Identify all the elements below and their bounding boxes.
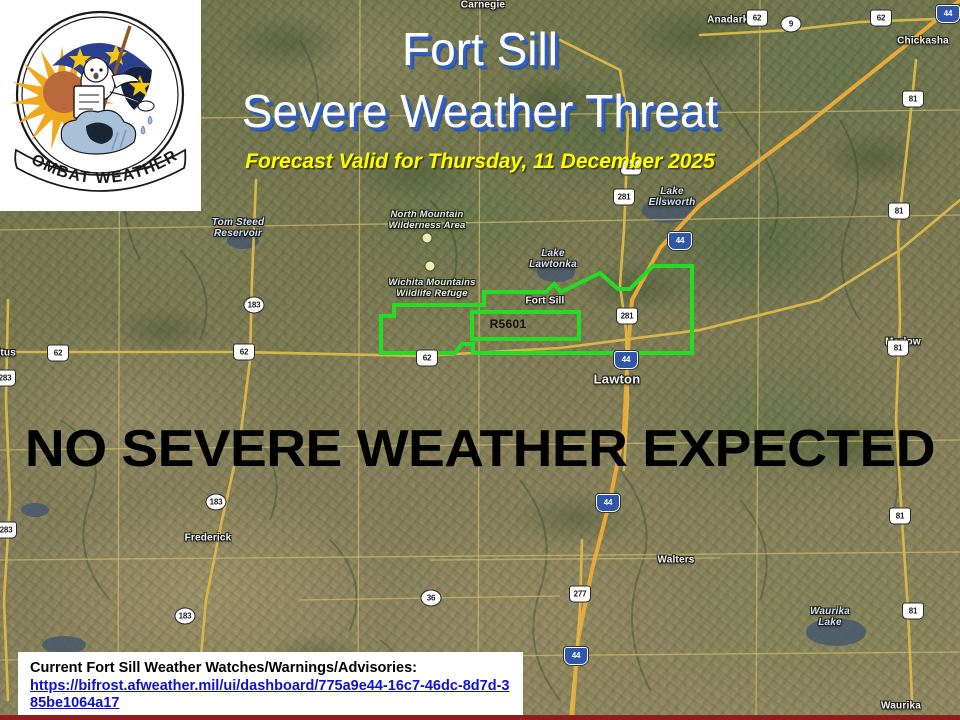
highway-shield-us-62-icon: 62 <box>47 345 69 362</box>
highway-shield-us-81-icon: 81 <box>887 340 909 357</box>
park-label-wichita-mountains: Wichita Mountains Wildlife Refuge <box>380 277 485 299</box>
highway-shield-us-81-icon: 81 <box>902 603 924 620</box>
watches-warnings-heading: Current Fort Sill Weather Watches/Warnin… <box>30 660 513 677</box>
water-label-waurika-lake: Waurika Lake <box>800 606 860 628</box>
city-label-altus: Altus <box>0 348 16 359</box>
highway-shield-i-44-icon: 44 <box>596 494 620 512</box>
highway-shield-sr-36-icon: 36 <box>421 590 442 607</box>
city-label-walters: Walters <box>657 555 694 566</box>
place-label-fort-sill: Fort Sill <box>525 296 564 307</box>
water-label-lake-ellsworth: Lake Ellsworth <box>637 186 707 208</box>
highway-shield-us-81-icon: 81 <box>888 203 910 220</box>
highway-shield-i-44-icon: 44 <box>614 351 638 369</box>
highway-shield-sr-183-icon: 183 <box>206 494 227 511</box>
highway-shield-us-81-icon: 81 <box>889 508 911 525</box>
highway-shield-sr-183-icon: 183 <box>175 608 196 625</box>
highway-shield-us-283-icon: 283 <box>0 522 17 539</box>
forecast-valid-subtitle: Forecast Valid for Thursday, 11 December… <box>0 150 960 174</box>
highway-shield-us-62-icon: 62 <box>233 344 255 361</box>
watches-warnings-card: Current Fort Sill Weather Watches/Warnin… <box>18 652 523 720</box>
threat-level-message: NO SEVERE WEATHER EXPECTED <box>0 423 960 475</box>
highway-shield-us-62-icon: 62 <box>416 350 438 367</box>
restricted-area-label: R5601 <box>490 317 527 331</box>
page-title-line-1: Fort Sill <box>0 26 960 72</box>
bottom-accent-stripe <box>0 715 960 720</box>
bifrost-dashboard-link[interactable]: https://bifrost.afweather.mil/ui/dashboa… <box>30 678 513 712</box>
highway-shield-i-44-icon: 44 <box>564 647 588 665</box>
highway-shield-us-283-icon: 283 <box>0 370 16 387</box>
highway-shield-us-281-icon: 281 <box>616 308 638 325</box>
park-label-north-mountain: North Mountain Wilderness Area <box>372 209 482 231</box>
highway-shield-i-44-icon: 44 <box>668 232 692 250</box>
city-label-frederick: Frederick <box>185 533 232 544</box>
city-label-carnegie: Carnegie <box>461 0 505 11</box>
page-title-line-2: Severe Weather Threat <box>0 88 960 134</box>
city-label-waurika: Waurika <box>881 701 921 712</box>
water-label-tom-steed-reservoir: Tom Steed Reservoir <box>202 217 274 239</box>
highway-shield-us-62-icon: 62 <box>870 10 892 27</box>
highway-shield-i-44-icon: 44 <box>936 5 960 23</box>
weather-briefing-slide: R5601 Carnegie Anadarko Chickasha Marlow… <box>0 0 960 720</box>
highway-shield-us-281-icon: 281 <box>613 189 635 206</box>
city-label-lawton: Lawton <box>594 372 641 387</box>
park-marker-icon <box>425 261 436 272</box>
water-label-lake-lawtonka: Lake Lawtonka <box>519 248 587 270</box>
park-marker-icon <box>422 233 433 244</box>
highway-shield-us-62-icon: 62 <box>746 10 768 27</box>
highway-shield-us-277-icon: 277 <box>569 586 591 603</box>
highway-shield-sr-183-icon: 183 <box>244 297 265 314</box>
